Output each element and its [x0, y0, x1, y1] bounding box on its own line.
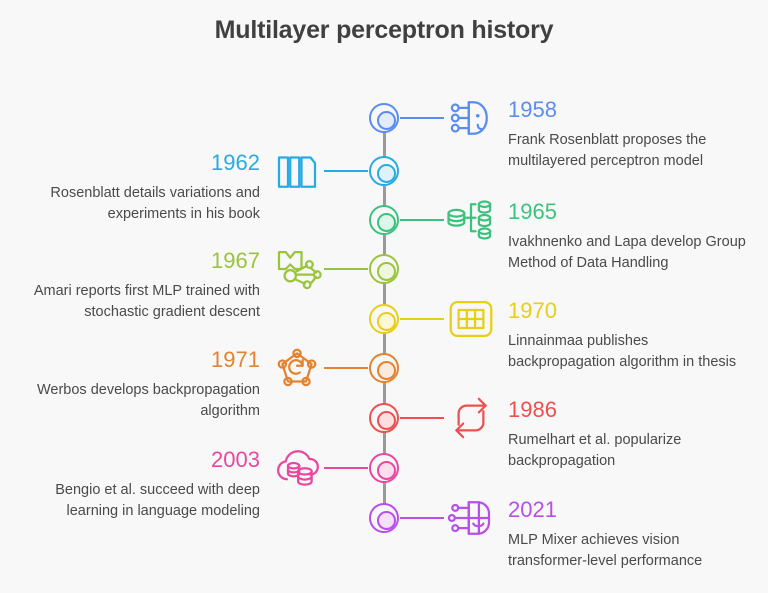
timeline-node-marker	[369, 453, 399, 483]
connector-line	[324, 170, 368, 172]
event-text-block: 1986Rumelhart et al. popularize backprop…	[508, 396, 758, 472]
head-grid-icon	[444, 491, 498, 545]
timeline-node-marker	[369, 403, 399, 433]
event-description: Frank Rosenblatt proposes the multilayer…	[508, 130, 758, 172]
connector-line	[400, 117, 444, 119]
timeline-node-marker	[369, 503, 399, 533]
event-description: Linnainmaa publishes backpropagation alg…	[508, 331, 758, 373]
event-text-block: 2021MLP Mixer achieves vision transforme…	[508, 496, 758, 572]
timeline-node-marker	[369, 156, 399, 186]
event-year: 2021	[508, 496, 758, 523]
database-tree-icon	[444, 193, 498, 247]
books-icon	[270, 144, 324, 198]
grid-table-icon	[444, 292, 498, 346]
event-year: 1971	[10, 346, 260, 373]
connector-line	[400, 219, 444, 221]
event-text-block: 1958Frank Rosenblatt proposes the multil…	[508, 96, 758, 172]
event-text-block: 1962Rosenblatt details variations and ex…	[10, 149, 260, 225]
event-year: 1986	[508, 396, 758, 423]
event-text-block: 1967Amari reports first MLP trained with…	[10, 247, 260, 323]
event-text-block: 1970Linnainmaa publishes backpropagation…	[508, 297, 758, 373]
connector-line	[400, 517, 444, 519]
event-description: Amari reports first MLP trained with sto…	[10, 281, 260, 323]
cloud-database-icon	[270, 441, 324, 495]
event-year: 1970	[508, 297, 758, 324]
event-year: 1962	[10, 149, 260, 176]
event-description: Ivakhnenko and Lapa develop Group Method…	[508, 232, 758, 274]
event-text-block: 1971Werbos develops backpropagation algo…	[10, 346, 260, 422]
timeline-node-marker	[369, 353, 399, 383]
connector-line	[400, 417, 444, 419]
event-text-block: 2003Bengio et al. succeed with deep lear…	[10, 446, 260, 522]
pentagon-refresh-icon	[270, 341, 324, 395]
event-description: Bengio et al. succeed with deep learning…	[10, 480, 260, 522]
event-description: MLP Mixer achieves vision transformer-le…	[508, 530, 758, 572]
connector-line	[324, 268, 368, 270]
event-year: 1967	[10, 247, 260, 274]
ai-head-icon	[444, 91, 498, 145]
connector-line	[400, 318, 444, 320]
timeline-node-marker	[369, 205, 399, 235]
timeline-node-marker	[369, 103, 399, 133]
event-description: Rumelhart et al. popularize backpropagat…	[508, 430, 758, 472]
connector-line	[324, 467, 368, 469]
page-title: Multilayer perceptron history	[0, 16, 768, 45]
event-text-block: 1965Ivakhnenko and Lapa develop Group Me…	[508, 198, 758, 274]
event-description: Werbos develops backpropagation algorith…	[10, 380, 260, 422]
timeline-node-marker	[369, 254, 399, 284]
timeline-node-marker	[369, 304, 399, 334]
event-description: Rosenblatt details variations and experi…	[10, 183, 260, 225]
event-year: 1958	[508, 96, 758, 123]
timeline-infographic: Multilayer perceptron history 1958Frank …	[0, 0, 768, 593]
book-network-icon	[270, 242, 324, 296]
event-year: 2003	[10, 446, 260, 473]
loop-arrows-icon	[444, 391, 498, 445]
event-year: 1965	[508, 198, 758, 225]
connector-line	[324, 367, 368, 369]
